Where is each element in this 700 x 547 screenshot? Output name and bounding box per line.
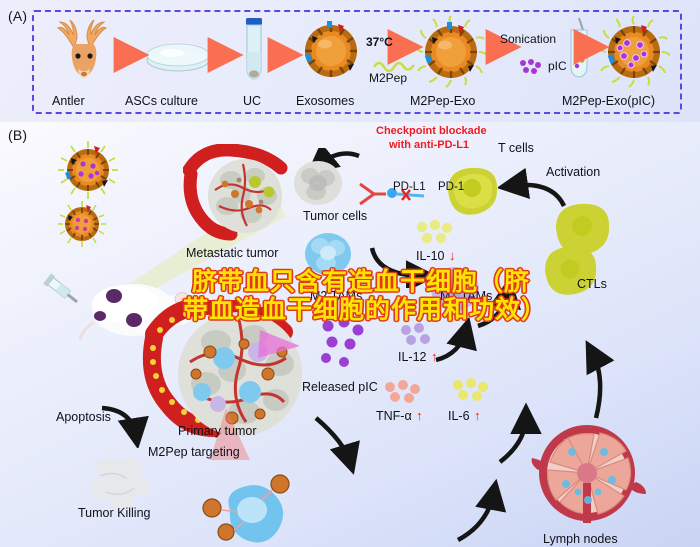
watermark-line-2: 带血造血干细胞的作用和功效） — [183, 290, 547, 326]
il-10-label: IL-10 — [416, 249, 445, 263]
checkpoint-blockade-line1: Checkpoint blockade — [376, 125, 487, 138]
checkpoint-blockade-line2: with anti-PD-L1 — [389, 139, 469, 152]
released-pic-dots — [318, 318, 368, 378]
activation-label: Activation — [546, 165, 600, 179]
pic-label: pIC — [548, 60, 567, 74]
tnf-alpha-group: TNF-α ↑ — [376, 407, 423, 425]
m2pep-targeting-icon — [196, 474, 296, 544]
metastatic-tumor-icon — [183, 144, 303, 244]
nanoparticle-icon-2 — [58, 200, 106, 248]
lymph-nodes-icon — [528, 418, 646, 528]
il-12-label: IL-12 — [398, 350, 427, 364]
panel-b-tag: (B) — [8, 127, 27, 143]
apoptosis-label: Apoptosis — [56, 410, 111, 424]
il-6-group: IL-6 ↑ — [448, 407, 481, 425]
t-cells-label: T cells — [498, 141, 534, 155]
step-label-m2pep-exo-pic: M2Pep-Exo(pIC) — [562, 94, 655, 108]
primary-tumor-label: Primary tumor — [178, 424, 256, 438]
tnf-alpha-trend-icon: ↑ — [416, 408, 423, 423]
il10-cytokine-dots — [415, 220, 455, 246]
ctls-label: CTLs — [577, 277, 607, 291]
released-pic-label: Released pIC — [302, 380, 378, 394]
m2pep-label: M2Pep — [369, 72, 407, 86]
il6-cytokine-dots — [450, 378, 492, 404]
tnf-alpha-label: TNF-α — [376, 409, 412, 423]
ctl-cell-icon-1 — [550, 200, 612, 258]
tumor-cell-icon — [290, 158, 346, 208]
panel-b-arrows — [0, 122, 700, 547]
figure-root: (A) — [0, 0, 700, 547]
arrow-tumorcells-to-metastatic — [275, 148, 365, 198]
step-label-exosomes: Exosomes — [296, 94, 354, 108]
nanoparticle-icon-1 — [58, 140, 118, 200]
step-label-uc: UC — [243, 94, 261, 108]
step-label-m2pep-exo: M2Pep-Exo — [410, 94, 475, 108]
tnf-alpha-cytokine-dots — [382, 380, 424, 406]
pd-l1-label: PD-L1 — [393, 181, 426, 194]
il-6-trend-icon: ↑ — [474, 408, 481, 423]
step-label-ascs-culture: ASCs culture — [125, 94, 198, 108]
il-12-group: IL-12 ↑ — [398, 348, 437, 366]
panel-b: (B) — [0, 122, 700, 547]
metastatic-tumor-label: Metastatic tumor — [186, 246, 278, 260]
panel-a-tag: (A) — [8, 8, 27, 24]
il-12-trend-icon: ↑ — [431, 349, 438, 364]
il-10-trend-icon: ↓ — [449, 248, 456, 263]
il-6-label: IL-6 — [448, 409, 470, 423]
pd-1-label: PD-1 — [438, 181, 464, 194]
sonication-label: Sonication — [500, 33, 556, 47]
m2pep-targeting-label: M2Pep targeting — [148, 445, 240, 459]
syringe-icon — [42, 272, 88, 312]
lymph-nodes-label: Lymph nodes — [543, 532, 618, 546]
temperature-label: 37°C — [366, 36, 393, 50]
step-label-antler: Antler — [52, 94, 85, 108]
panel-a: (A) — [0, 0, 700, 122]
tumor-killing-label: Tumor Killing — [78, 506, 150, 520]
tumor-cells-label: Tumor cells — [303, 209, 367, 223]
